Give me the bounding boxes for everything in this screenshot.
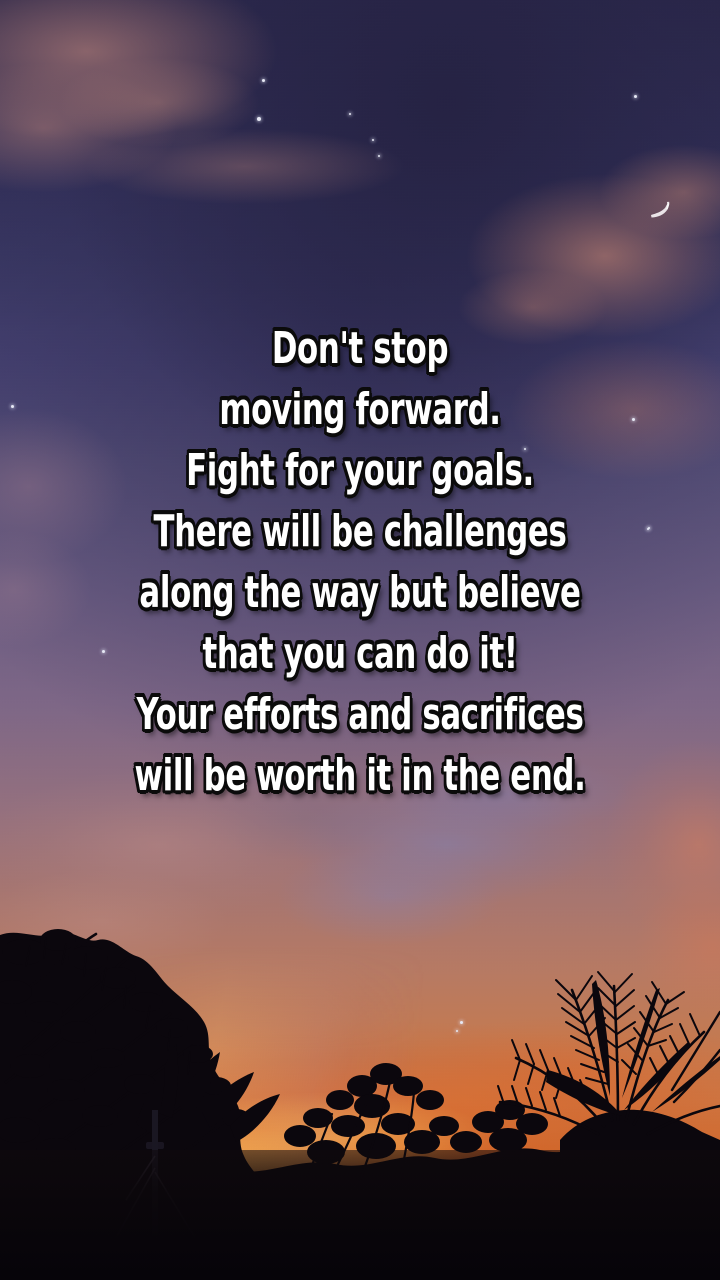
quote-line-2: moving forward.: [108, 379, 612, 440]
star-icon: [456, 1030, 458, 1032]
quote-line-5: along the way but believe: [108, 562, 612, 623]
quote-line-6: that you can do it!: [108, 623, 612, 684]
quote-text-block: Don't stop moving forward. Fight for you…: [0, 318, 720, 806]
quote-line-8: will be worth it in the end.: [108, 745, 612, 806]
quote-line-1: Don't stop: [108, 318, 612, 379]
star-icon: [460, 1021, 463, 1024]
star-icon: [257, 117, 261, 121]
star-icon: [349, 113, 351, 115]
quote-line-7: Your efforts and sacrifices: [108, 684, 612, 745]
star-icon: [634, 95, 637, 98]
quote-wallpaper: Don't stop moving forward. Fight for you…: [0, 0, 720, 1280]
ground-dark-wash: [0, 1150, 720, 1280]
quote-line-4: There will be challenges: [108, 501, 612, 562]
star-icon: [378, 155, 380, 157]
star-icon: [372, 139, 374, 141]
star-icon: [262, 79, 265, 82]
quote-line-3: Fight for your goals.: [108, 440, 612, 501]
